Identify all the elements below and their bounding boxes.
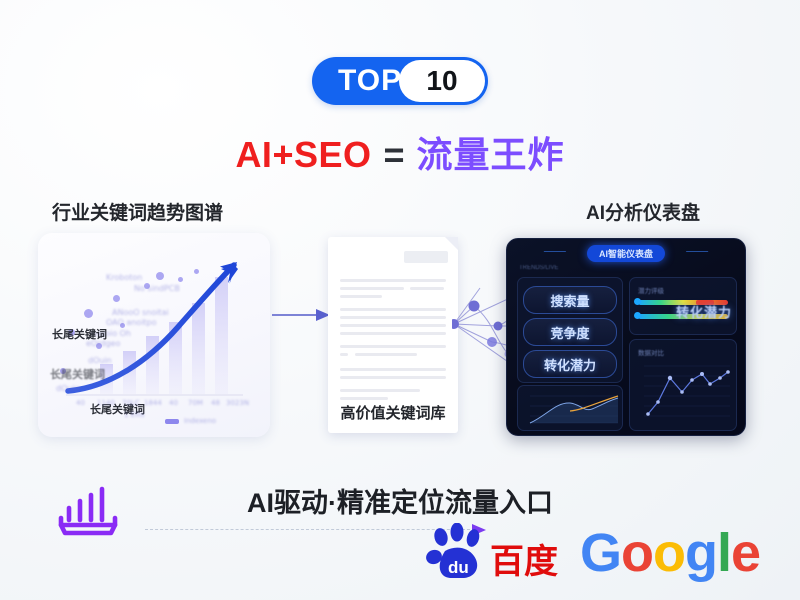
data-blob [178, 277, 183, 282]
top-badge-number: 10 [426, 67, 457, 95]
baidu-logo: du 百度 [424, 523, 584, 585]
axis-tick: 70LC [122, 399, 140, 407]
keyword-label: 长尾关键词 [50, 366, 105, 382]
section-label-dashboard: AI分析仪表盘 [586, 198, 700, 225]
ghost-label: ANooO snoitai [112, 308, 169, 317]
axis-tick: 3023N [226, 399, 249, 407]
top-badge-number-circle: 10 [399, 60, 485, 102]
title-right: 流量王炸 [417, 134, 565, 175]
metric-pill-search-volume[interactable]: 搜索量 [523, 286, 617, 314]
title-operator: = [384, 134, 405, 175]
bar-marker [634, 298, 641, 305]
ghost-label: dOuin [88, 356, 112, 365]
area-chart-panel [517, 385, 623, 431]
legend-swatch [165, 419, 179, 424]
axis-tick: 1844 [144, 399, 162, 407]
dashboard-title-badge: AI智能仪表盘 [587, 245, 665, 262]
axis-tick: 48 [211, 399, 220, 407]
page-title: AI+SEO=流量王炸 [0, 126, 800, 178]
axis-tick: 40 [169, 399, 178, 407]
chart-footnote: 1 Ellis [124, 411, 145, 419]
ghost-label: dOuin [56, 384, 80, 393]
document-label: 高价值关键词库 [328, 402, 458, 423]
google-letter-o2: o [653, 523, 685, 583]
baidu-du-text: du [448, 558, 469, 577]
data-blob [194, 269, 199, 274]
top-badge: TOP 10 [312, 57, 488, 105]
dashboard-subtitle: TRENDS/LIVE [519, 265, 558, 271]
panel-title-rating: 潜力评级 [638, 285, 664, 295]
top-badge-word: TOP [338, 66, 402, 96]
bar-marker [634, 312, 641, 319]
metric-pill-conversion[interactable]: 转化潜力 [523, 350, 617, 378]
google-letter-o1: o [621, 523, 653, 583]
comparison-chart-panel: 数据对比 [629, 339, 737, 431]
baidu-cn-text: 百度 [490, 543, 558, 581]
dashboard-conversion-label: 转化潜力 [676, 302, 732, 321]
doc-header-block [404, 251, 448, 263]
comparison-chart-svg [630, 358, 736, 430]
ghost-label: No sindPCB [134, 284, 180, 293]
axis-tick: 1140 [97, 399, 115, 407]
google-letter-l: l [717, 523, 731, 583]
deco-corner [538, 251, 566, 262]
google-letter-G: G [580, 523, 621, 583]
page-fold-icon [445, 237, 458, 250]
area-chart-svg [518, 386, 622, 430]
ghost-label: Kroboton [106, 273, 142, 282]
flow-arrow-icon [272, 305, 332, 325]
axis-tick: 70M [188, 399, 203, 407]
axis-tick: 40 [76, 399, 85, 407]
legend-label: Indexeno [184, 417, 216, 425]
ghost-label: OAO anoitpo [106, 318, 157, 327]
keyword-label: 长尾关键词 [52, 326, 107, 342]
title-left: AI+SEO [235, 134, 371, 175]
bar-chart-pedestal-icon [52, 484, 124, 546]
deco-corner [686, 251, 714, 262]
data-blob [113, 295, 120, 302]
data-blob [156, 272, 164, 280]
section-label-trend: 行业关键词趋势图谱 [52, 198, 223, 225]
google-letter-e: e [731, 523, 760, 583]
metric-pill-competition[interactable]: 竞争度 [523, 318, 617, 346]
ai-dashboard-card: AI智能仪表盘 TRENDS/LIVE 搜索量 竞争度 转化潜力 潜力评级 数据… [506, 238, 746, 436]
data-blob [84, 309, 93, 318]
document-card: 高价值关键词库 [328, 237, 458, 433]
trend-chart-card: Kroboton No sindPCB ANooO snoitai OAO an… [38, 233, 270, 437]
metrics-panel: 搜索量 竞争度 转化潜力 [517, 277, 623, 383]
google-logo: Google [580, 524, 760, 582]
panel-title-comparison: 数据对比 [638, 347, 664, 357]
google-letter-g: g [685, 523, 717, 583]
